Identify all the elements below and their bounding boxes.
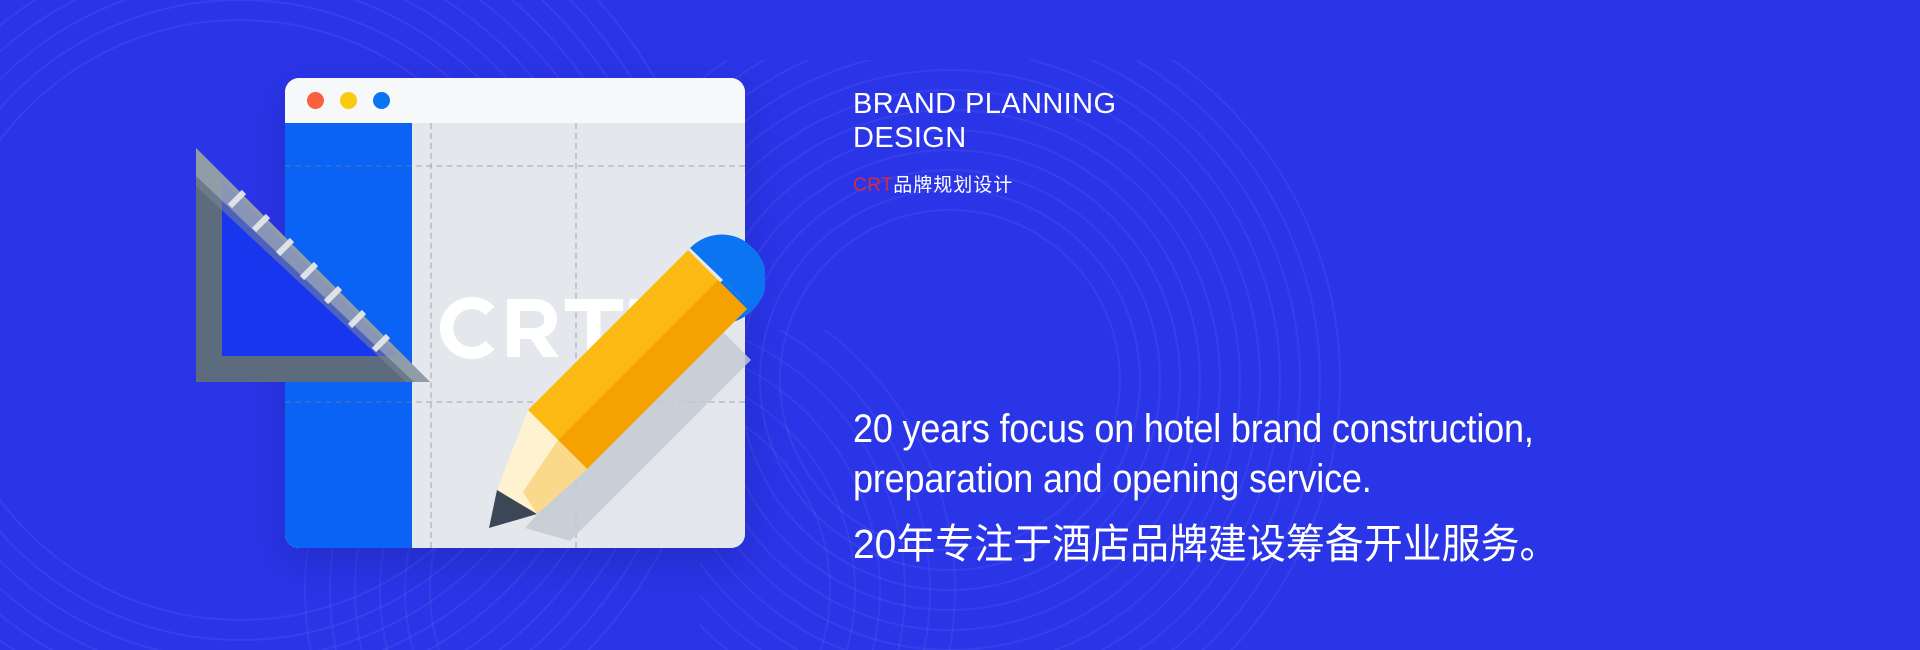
heading-brand-planning-design: BRAND PLANNING DESIGN	[853, 88, 1116, 156]
banner-root: BRAND PLANNING DESIGN CRT品牌规划设计 20 years…	[0, 0, 1920, 650]
window-titlebar	[285, 78, 745, 123]
subheading-chinese: CRT品牌规划设计	[853, 170, 1013, 197]
pencil-icon	[475, 228, 765, 558]
subheading-chinese-text: 品牌规划设计	[893, 175, 1013, 196]
triangle-ruler-icon	[188, 140, 438, 390]
close-dot-icon[interactable]	[307, 92, 324, 109]
text-block: BRAND PLANNING DESIGN CRT品牌规划设计 20 years…	[853, 0, 1853, 650]
minimize-dot-icon[interactable]	[340, 92, 357, 109]
tagline-chinese: 20年专注于酒店品牌建设筹备开业服务。	[853, 510, 1558, 570]
subheading-brand-crt: CRT	[853, 175, 893, 196]
hero-illustration	[230, 78, 750, 558]
tagline-english: 20 years focus on hotel brand constructi…	[853, 405, 1534, 504]
maximize-dot-icon[interactable]	[373, 92, 390, 109]
